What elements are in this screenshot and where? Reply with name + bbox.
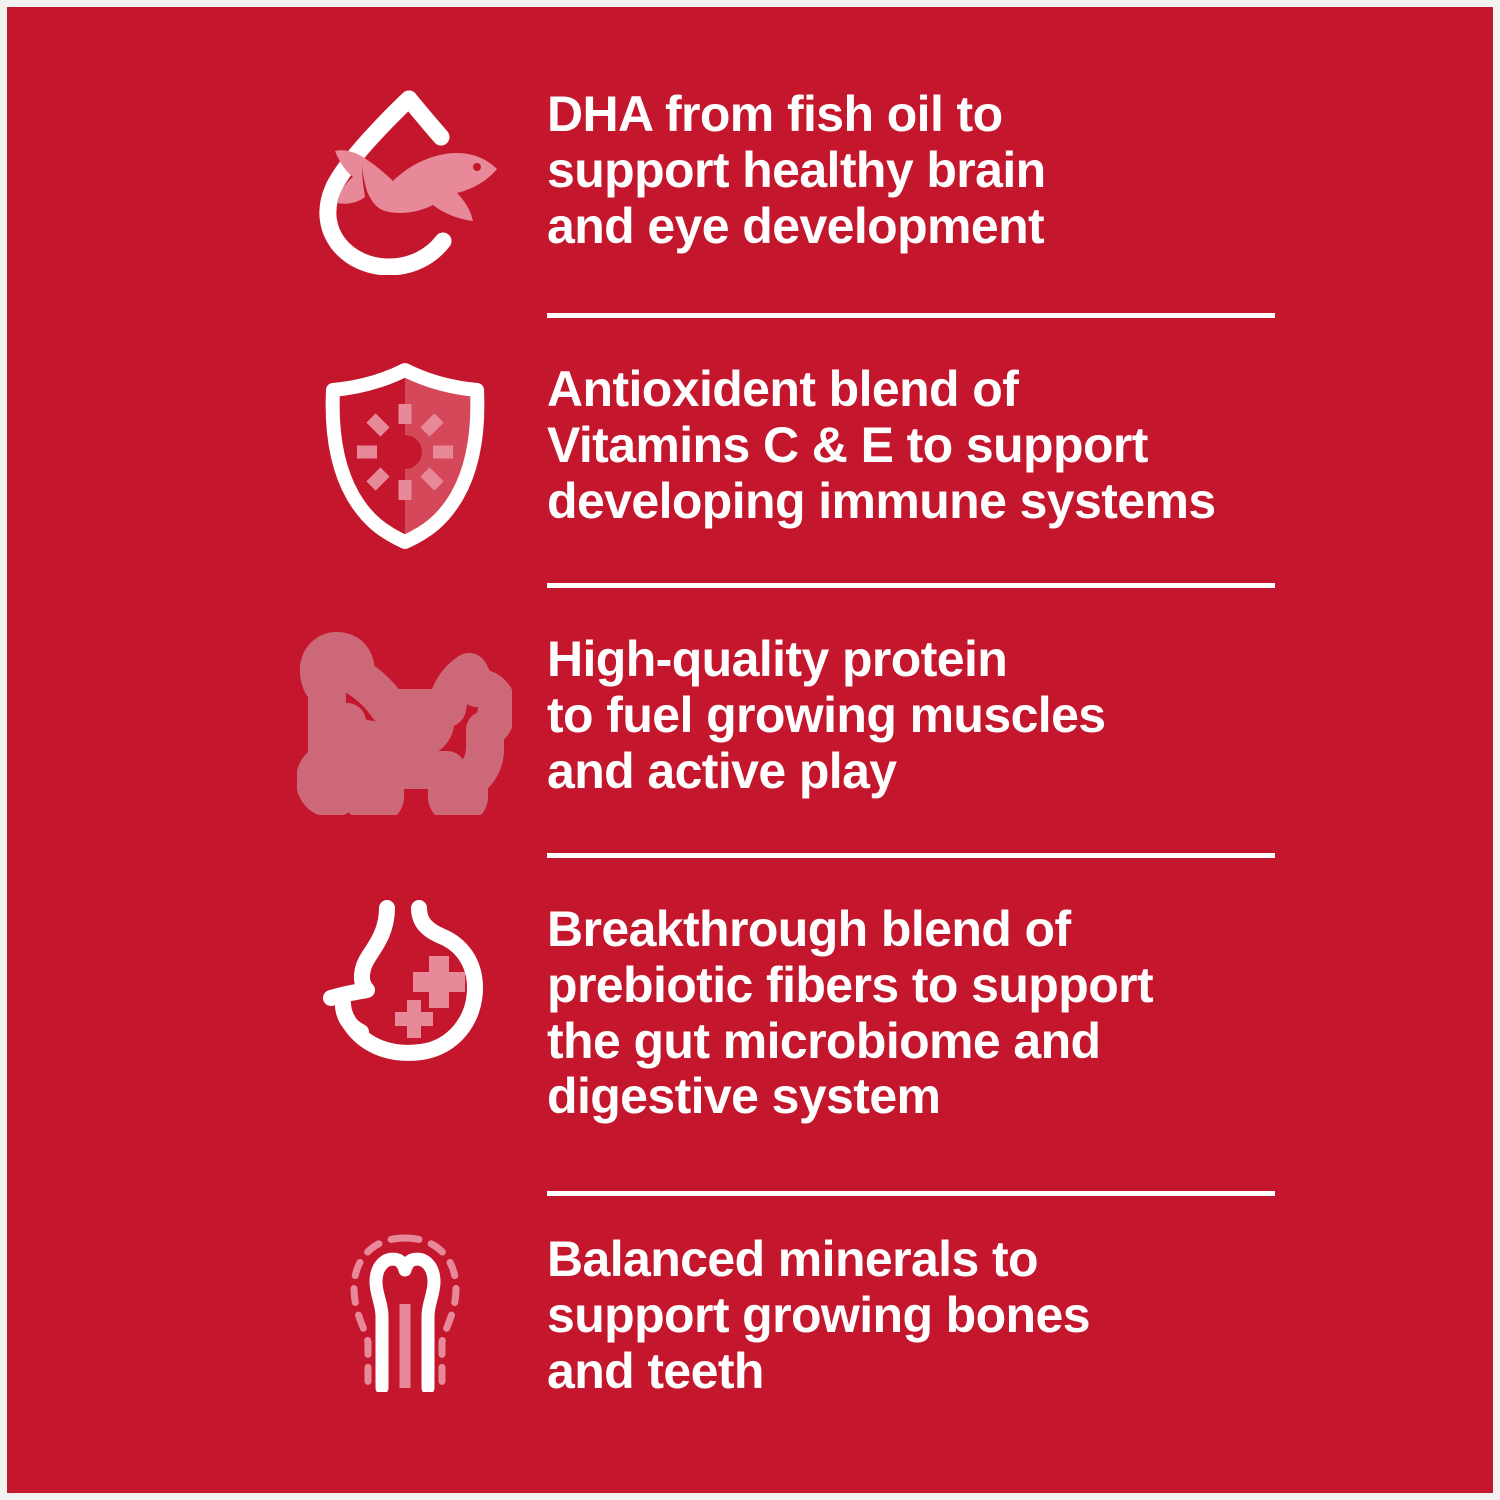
benefit-text-antioxidant: Antioxident blend of Vitamins C & E to s…	[547, 362, 1292, 529]
icon-cell-minerals	[262, 1230, 547, 1392]
benefit-text-prebiotic: Breakthrough blend of prebiotic fibers t…	[547, 902, 1292, 1125]
icon-cell-prebiotic	[262, 900, 547, 1062]
text-cell-prebiotic: Breakthrough blend of prebiotic fibers t…	[547, 900, 1292, 1125]
benefit-text-minerals: Balanced minerals to support growing bon…	[547, 1232, 1292, 1399]
antioxidant-shield-icon	[319, 360, 491, 550]
fish-oil-droplet-icon	[305, 85, 505, 275]
plus-small	[395, 1000, 433, 1038]
benefit-text-dha: DHA from fish oil to support healthy bra…	[547, 87, 1292, 254]
divider-after-protein	[547, 853, 1275, 858]
text-cell-dha: DHA from fish oil to support healthy bra…	[547, 85, 1292, 254]
benefit-row-protein: High-quality protein to fuel growing mus…	[262, 630, 1292, 815]
dog-muscle-icon	[297, 630, 512, 815]
benefit-row-dha: DHA from fish oil to support healthy bra…	[262, 85, 1292, 275]
stomach-digestive-icon	[319, 900, 491, 1062]
divider-after-dha	[547, 313, 1275, 318]
divider-after-antioxidant	[547, 583, 1275, 588]
bone-icon	[338, 1230, 472, 1392]
benefit-list: DHA from fish oil to support healthy bra…	[7, 7, 1493, 1493]
icon-cell-antioxidant	[262, 360, 547, 550]
text-cell-antioxidant: Antioxident blend of Vitamins C & E to s…	[547, 360, 1292, 529]
icon-cell-protein	[262, 630, 547, 815]
benefit-row-antioxidant: Antioxident blend of Vitamins C & E to s…	[262, 360, 1292, 550]
icon-cell-dha	[262, 85, 547, 275]
benefit-row-prebiotic: Breakthrough blend of prebiotic fibers t…	[262, 900, 1292, 1125]
text-cell-protein: High-quality protein to fuel growing mus…	[547, 630, 1292, 799]
benefits-panel: DHA from fish oil to support healthy bra…	[7, 7, 1493, 1493]
benefit-row-minerals: Balanced minerals to support growing bon…	[262, 1230, 1292, 1399]
benefit-text-protein: High-quality protein to fuel growing mus…	[547, 632, 1292, 799]
text-cell-minerals: Balanced minerals to support growing bon…	[547, 1230, 1292, 1399]
divider-after-prebiotic	[547, 1191, 1275, 1196]
